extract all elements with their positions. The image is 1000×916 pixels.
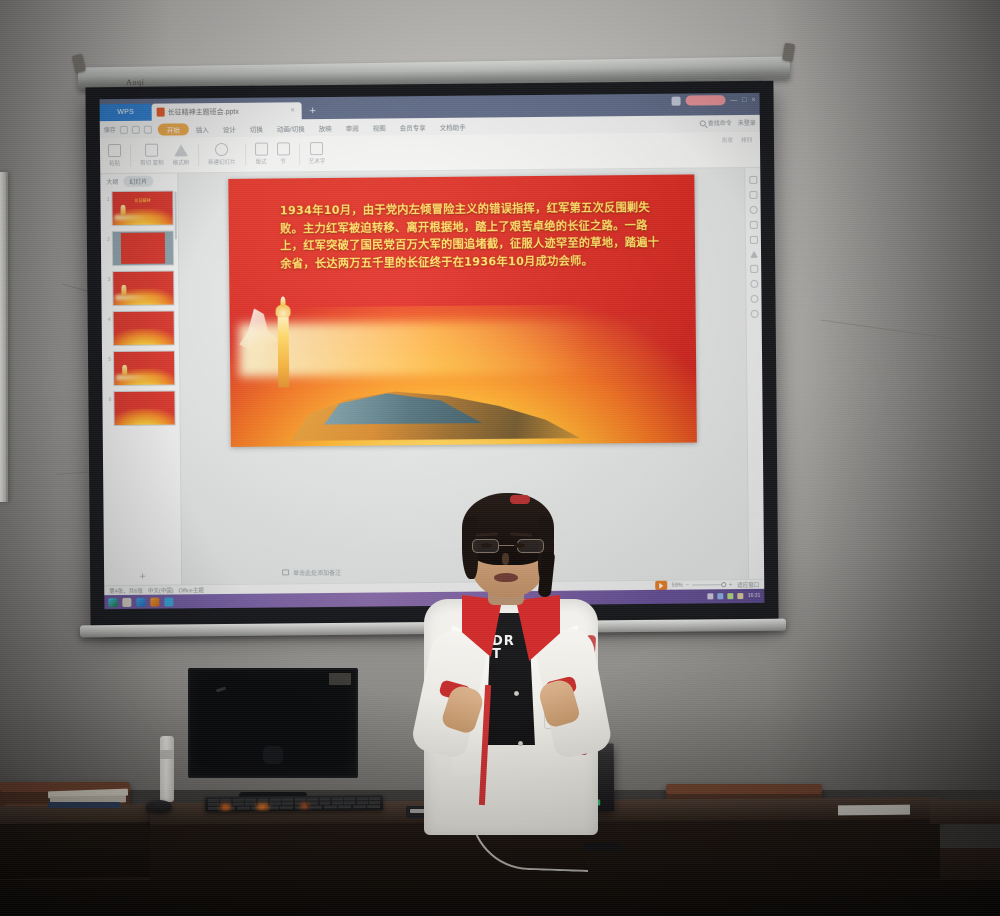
tab-design[interactable]: 设计 <box>216 122 243 134</box>
search-icon <box>700 120 706 126</box>
login-state-label[interactable]: 未登录 <box>738 118 756 127</box>
computer-keyboard <box>205 795 383 812</box>
history-icon[interactable] <box>750 295 758 303</box>
slide-monument-graphic <box>271 295 294 387</box>
slide-ray <box>116 295 170 300</box>
slide-ray <box>115 215 169 220</box>
slide-number: 3 <box>105 271 110 283</box>
star-icon[interactable] <box>750 251 758 258</box>
search-icon[interactable] <box>749 206 757 214</box>
nose <box>502 553 509 565</box>
computer-mouse <box>146 800 172 813</box>
tab-review[interactable]: 审阅 <box>339 121 366 133</box>
monument-shaft <box>278 313 290 387</box>
quick-access-toolbar: 保存 <box>104 125 158 135</box>
ribbon-divider <box>245 143 246 165</box>
panel-icon[interactable] <box>749 176 757 184</box>
section-icon <box>277 142 290 155</box>
file-explorer-icon[interactable] <box>122 597 131 606</box>
section-group[interactable]: 节 <box>277 142 290 165</box>
quick-access-label[interactable]: 保存 <box>104 125 116 134</box>
delete-icon[interactable] <box>750 265 758 273</box>
under-desk-box <box>585 843 621 851</box>
projector-brand-label: Aoqi <box>126 78 145 87</box>
water-bottle <box>160 736 174 802</box>
floor <box>0 880 1000 916</box>
slide-glow <box>113 408 175 426</box>
search-command-box[interactable]: 查找命令 <box>700 118 732 127</box>
start-slideshow-button[interactable] <box>655 581 667 590</box>
window-close-button[interactable]: × <box>751 96 755 103</box>
list-item[interactable]: 5 <box>106 350 175 386</box>
search-placeholder: 查找命令 <box>708 118 732 127</box>
wps-taskbar-icon[interactable] <box>164 597 173 606</box>
slide-thumbnail-4[interactable] <box>113 310 175 346</box>
zoom-in-button[interactable]: + <box>729 582 732 588</box>
window-controls: — □ × <box>671 95 755 106</box>
slide-inner <box>121 233 164 264</box>
tab-transition[interactable]: 切换 <box>243 122 270 134</box>
share-icon[interactable] <box>750 280 758 288</box>
format-painter-icon <box>174 144 188 156</box>
zoom-out-button[interactable]: − <box>686 582 689 588</box>
monitor-sticker <box>329 673 351 685</box>
fit-window-button[interactable]: 适应窗口 <box>737 580 759 588</box>
notes-icon <box>282 569 289 575</box>
slide-number: 4 <box>106 311 111 323</box>
desktop-monitor <box>188 668 358 778</box>
ime-icon[interactable] <box>738 593 744 599</box>
help-icon[interactable] <box>750 310 758 318</box>
tab-slideshow[interactable]: 放映 <box>312 121 339 133</box>
redo-icon[interactable] <box>132 125 140 133</box>
print-icon[interactable] <box>144 125 152 133</box>
sound-icon[interactable] <box>718 593 724 599</box>
slide-thumbnail-list: 1 长征精神 2 <box>100 188 181 569</box>
tab-start[interactable]: 开始 <box>158 123 189 135</box>
slide-thumb-title: 长征精神 <box>117 197 167 202</box>
classroom-scene: Aoqi WPS 长征精神主题班会.pptx × + <box>0 0 1000 916</box>
paste-label: 粘贴 <box>109 159 120 167</box>
desk-right-extension <box>930 800 1000 824</box>
tab-doc-assistant[interactable]: 文档助手 <box>433 120 473 132</box>
ribbon-right-controls: 查找命令 未登录 <box>700 118 756 128</box>
slide-body-text: 1934年10月，由于党内左倾冒险主义的错误指挥，红军第五次反围剿失败。主力红军… <box>280 199 667 273</box>
ribbon-divider <box>130 144 131 166</box>
slide-monument <box>122 365 126 375</box>
slide-navigator-panel: 大纲 幻灯片 1 长征精神 <box>100 173 182 585</box>
eye-right <box>514 543 525 548</box>
tab-slides[interactable]: 幻灯片 <box>123 176 153 187</box>
eye-left <box>481 543 492 548</box>
account-icon[interactable] <box>671 96 680 105</box>
slide-monument <box>121 205 125 215</box>
notes-placeholder: 单击此处添加备注 <box>293 567 341 576</box>
chair-back <box>666 784 822 794</box>
list-item[interactable]: 6 <box>106 390 175 426</box>
tab-animation[interactable]: 动画/切换 <box>270 122 312 134</box>
document-tab-title: 长征精神主题班会.pptx <box>168 106 239 117</box>
slide-number: 2 <box>105 231 110 243</box>
cloud-icon[interactable] <box>749 236 757 244</box>
mouth <box>494 573 518 582</box>
cut-copy-label: 剪切 复制 <box>140 159 164 167</box>
red-hair-tie <box>510 495 530 504</box>
zoom-percent: 59% <box>672 582 683 588</box>
tab-insert[interactable]: 插入 <box>189 123 216 135</box>
system-tray: 16:31 <box>708 593 761 600</box>
language-label[interactable]: 中文(中国) <box>148 586 174 594</box>
zoom-slider-knob[interactable] <box>721 582 726 587</box>
list-item[interactable]: 2 <box>105 230 174 266</box>
keyboard-backlight <box>257 804 268 809</box>
slide-thumbnail-5[interactable] <box>113 350 175 386</box>
keyboard-backlight <box>301 804 308 808</box>
slide-body-textbox[interactable]: 1934年10月，由于党内左倾冒险主义的错误指挥，红军第五次反围剿失败。主力红军… <box>280 199 667 273</box>
new-slide-group[interactable]: 新建幻灯片 <box>208 143 236 166</box>
theme-label[interactable]: Office主题 <box>179 586 204 594</box>
zoom-slider[interactable] <box>692 584 726 585</box>
monument-tip <box>280 296 285 306</box>
books-stack <box>48 790 128 808</box>
list-item[interactable]: 1 长征精神 <box>104 190 173 226</box>
image-icon[interactable] <box>749 221 757 229</box>
undo-icon[interactable] <box>120 125 128 133</box>
presentation-file-icon <box>157 108 165 117</box>
document-tab[interactable]: 长征精神主题班会.pptx × <box>152 102 302 120</box>
shapes-label[interactable]: 形状 <box>722 136 733 144</box>
keyboard-backlight <box>221 805 230 810</box>
slide-thumbnail-1[interactable]: 长征精神 <box>111 190 173 226</box>
presenter-person: DRT <box>418 495 604 835</box>
list-item[interactable]: 4 <box>106 310 175 346</box>
battery-icon[interactable] <box>728 593 734 599</box>
slide-thumbnail-3[interactable] <box>112 270 174 306</box>
slide-number: 5 <box>106 351 111 363</box>
new-slide-icon <box>215 143 228 156</box>
slide-light-beam <box>239 319 687 377</box>
paste-icon <box>108 144 121 157</box>
comment-icon[interactable] <box>749 191 757 199</box>
new-tab-button[interactable]: + <box>302 102 324 119</box>
bottle-band <box>160 750 174 759</box>
start-button-icon[interactable] <box>108 598 117 607</box>
wps-logo-label: WPS <box>117 109 134 116</box>
textart-icon <box>310 142 323 155</box>
add-slide-button[interactable]: + <box>104 568 181 585</box>
monitor-stand-neck <box>263 746 283 764</box>
slide-ray <box>117 375 171 380</box>
slide-thumbnail-6[interactable] <box>113 390 175 426</box>
taskbar-clock[interactable]: 16:31 <box>748 593 761 599</box>
section-label: 节 <box>280 157 286 165</box>
textart-group[interactable]: 艺术字 <box>309 142 326 165</box>
slide-monument <box>122 285 126 295</box>
slide-thumbnail-2[interactable] <box>112 230 174 266</box>
ribbon-trailing-group: 形状 排列 <box>722 136 752 144</box>
network-icon[interactable] <box>708 593 714 599</box>
textart-label: 艺术字 <box>309 157 326 165</box>
ribbon-divider <box>299 143 300 165</box>
wps-logo[interactable]: WPS <box>100 104 152 121</box>
layout-group[interactable]: 版式 <box>255 143 268 166</box>
slide-count-label: 第4张，共6张 <box>109 586 143 594</box>
close-icon[interactable]: × <box>291 107 295 114</box>
book-bottom <box>48 802 120 808</box>
whiteboard-edge <box>0 172 8 502</box>
format-painter-label: 格式刷 <box>173 158 190 166</box>
keyboard-row <box>208 805 380 810</box>
jacket-button <box>518 741 523 746</box>
maximize-button[interactable]: □ <box>742 96 746 103</box>
tab-outline[interactable]: 大纲 <box>106 177 118 186</box>
slide-panel-tabs: 大纲 幻灯片 <box>100 173 177 189</box>
zoom-control[interactable]: 59% − + <box>672 582 733 589</box>
tab-view[interactable]: 视图 <box>366 121 393 133</box>
jacket-button <box>514 691 519 696</box>
current-slide[interactable]: 1934年10月，由于党内左倾冒险主义的错误指挥，红军第五次反围剿失败。主力红军… <box>228 174 697 446</box>
new-slide-label: 新建幻灯片 <box>208 158 236 166</box>
upgrade-button[interactable] <box>685 95 725 105</box>
arrange-label[interactable]: 排列 <box>741 136 752 144</box>
paper-sheet <box>838 805 910 816</box>
layout-label: 版式 <box>256 158 267 166</box>
cut-copy-group[interactable]: 剪切 复制 <box>140 144 164 167</box>
list-item[interactable]: 3 <box>105 270 174 306</box>
slide-number: 6 <box>106 391 111 403</box>
browser-icon[interactable] <box>136 597 145 606</box>
minimize-button[interactable]: — <box>730 97 737 104</box>
layout-icon <box>255 143 268 156</box>
chat-app-icon[interactable] <box>150 597 159 606</box>
slide-glow <box>113 328 175 346</box>
paste-group[interactable]: 粘贴 <box>108 144 121 167</box>
wall-shadow-right <box>770 0 1000 790</box>
tab-member[interactable]: 会员专享 <box>393 120 433 132</box>
slide-number: 1 <box>104 191 109 203</box>
cut-icon <box>145 144 158 157</box>
ribbon-divider <box>198 144 199 166</box>
format-painter-group[interactable]: 格式刷 <box>173 144 190 166</box>
